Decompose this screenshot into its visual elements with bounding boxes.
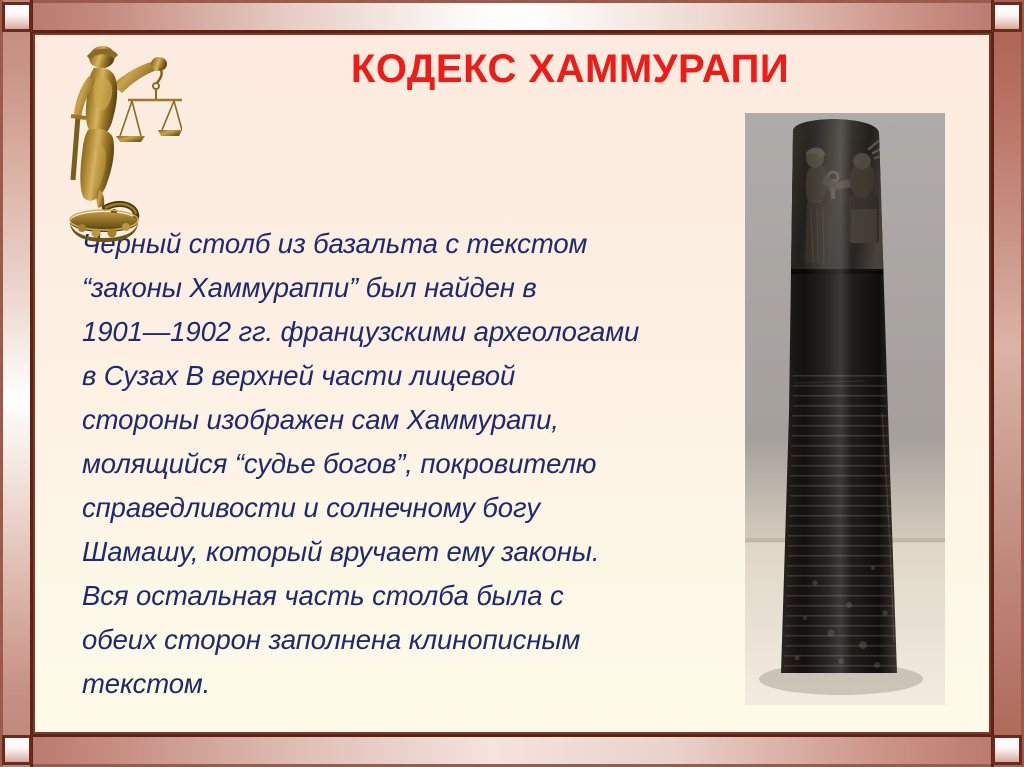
lady-justice-statue — [42, 30, 182, 248]
frame-band-bottom — [0, 734, 1024, 767]
frame-corner-bottom-left — [2, 735, 32, 765]
body-line: 1901—1902 гг. французскими археологами — [82, 310, 707, 354]
frame-corner-top-right — [992, 2, 1022, 32]
hammurabi-stele-photo — [745, 113, 945, 705]
body-line: Шамашу, который вручает ему законы. — [82, 530, 707, 574]
body-line: Вся остальная часть столба была с — [82, 574, 707, 618]
presentation-slide: КОДЕКС ХАММУРАПИ — [0, 0, 1024, 767]
slide-title: КОДЕКС ХАММУРАПИ — [230, 47, 910, 92]
body-paragraph: Черный столб из базальта с текстом “зако… — [82, 222, 707, 706]
body-line: текстом. — [82, 662, 707, 706]
body-line: молящийся “судье богов”, покровителю — [82, 442, 707, 486]
frame-corner-top-left — [2, 2, 32, 32]
body-line: “законы Хаммураппи” был найден в — [82, 266, 707, 310]
frame-band-left — [0, 0, 33, 767]
frame-band-right — [991, 0, 1024, 767]
body-line: стороны изображен сам Хаммурапи, — [82, 398, 707, 442]
body-line: справедливости и солнечному богу — [82, 486, 707, 530]
body-line: обеих сторон заполнена клинописным — [82, 618, 707, 662]
frame-corner-bottom-right — [992, 735, 1022, 765]
body-line: в Сузах В верхней части лицевой — [82, 354, 707, 398]
frame-band-top — [0, 0, 1024, 33]
